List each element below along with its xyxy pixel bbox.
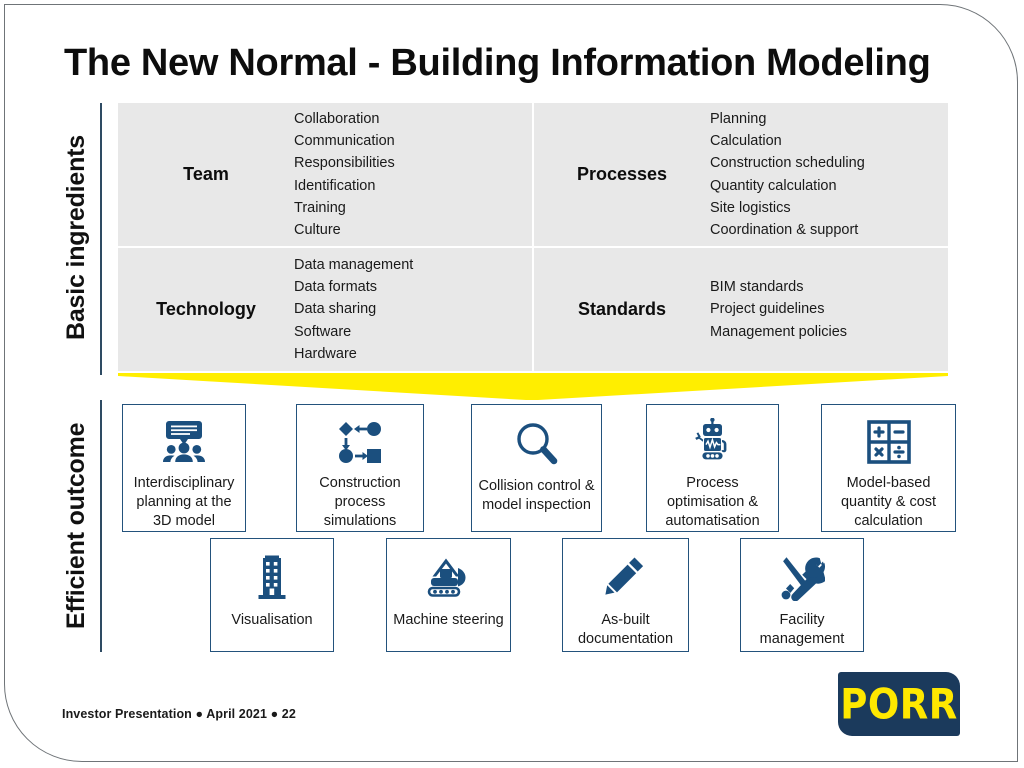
quadrant-item: Responsibilities bbox=[294, 152, 395, 174]
quadrant-items-standards: BIM standards Project guidelines Managem… bbox=[710, 276, 847, 343]
quadrant-item: Communication bbox=[294, 130, 395, 152]
outcome-box-visualisation[interactable]: Visualisation bbox=[210, 538, 334, 652]
quadrant-item: Project guidelines bbox=[710, 298, 847, 320]
excavator-icon bbox=[423, 551, 475, 605]
quadrant-item: Calculation bbox=[710, 130, 865, 152]
quadrant-item: Software bbox=[294, 321, 413, 343]
outcome-box-collision-control[interactable]: Collision control & model inspection bbox=[471, 404, 602, 532]
section-rule-basic-ingredients bbox=[100, 103, 102, 375]
quadrant-item: Data formats bbox=[294, 276, 413, 298]
flowchart-icon bbox=[335, 417, 385, 468]
outcome-label: Model-based quantity & cost calculation bbox=[822, 474, 955, 531]
quadrant-standards: Standards BIM standards Project guidelin… bbox=[534, 248, 948, 371]
outcome-label: Facility management bbox=[741, 611, 863, 649]
outcome-box-construction-process-simulations[interactable]: Construction process simulations bbox=[296, 404, 424, 532]
quadrant-items-technology: Data management Data formats Data sharin… bbox=[294, 254, 413, 365]
outcome-label: Interdisciplinary planning at the 3D mod… bbox=[123, 474, 245, 531]
quadrant-item: Coordination & support bbox=[710, 219, 865, 241]
porr-logo-text: PORR bbox=[840, 680, 958, 728]
quadrant-title-team: Team bbox=[118, 164, 294, 185]
quadrant-item: Collaboration bbox=[294, 108, 395, 130]
quadrant-item: Quantity calculation bbox=[710, 175, 865, 197]
outcome-label: Collision control & model inspection bbox=[472, 477, 601, 515]
outcome-label: Machine steering bbox=[388, 611, 508, 630]
quadrant-title-standards: Standards bbox=[534, 299, 710, 320]
porr-logo: PORR bbox=[838, 672, 960, 736]
pencil-icon bbox=[604, 551, 648, 605]
quadrant-processes: Processes Planning Calculation Construct… bbox=[534, 103, 948, 246]
magnifier-icon bbox=[513, 417, 561, 471]
tools-icon bbox=[779, 551, 825, 605]
outcome-label: Visualisation bbox=[226, 611, 317, 630]
building-icon bbox=[252, 551, 292, 605]
outcome-box-process-optimisation[interactable]: Process optimisation & automatisation bbox=[646, 404, 779, 532]
quadrant-technology: Technology Data management Data formats … bbox=[118, 248, 532, 371]
quadrant-title-technology: Technology bbox=[118, 299, 294, 320]
quadrant-items-team: Collaboration Communication Responsibili… bbox=[294, 108, 395, 241]
quadrant-item: Management policies bbox=[710, 321, 847, 343]
slide: The New Normal - Building Information Mo… bbox=[0, 0, 1024, 768]
calculator-icon bbox=[866, 417, 912, 468]
quadrant-item: Data sharing bbox=[294, 298, 413, 320]
quadrant-item: Site logistics bbox=[710, 197, 865, 219]
section-label-efficient-outcome: Efficient outcome bbox=[62, 400, 91, 652]
yellow-down-arrow-icon bbox=[118, 373, 948, 400]
outcome-box-model-based-quantity[interactable]: Model-based quantity & cost calculation bbox=[821, 404, 956, 532]
quadrant-item: Culture bbox=[294, 219, 395, 241]
outcome-box-as-built-documentation[interactable]: As-built documentation bbox=[562, 538, 689, 652]
outcome-box-facility-management[interactable]: Facility management bbox=[740, 538, 864, 652]
quadrant-team: Team Collaboration Communication Respons… bbox=[118, 103, 532, 246]
basic-ingredients-matrix: Team Collaboration Communication Respons… bbox=[118, 103, 948, 369]
footer-text: Investor Presentation ● April 2021 ● 22 bbox=[62, 707, 296, 721]
quadrant-items-processes: Planning Calculation Construction schedu… bbox=[710, 108, 865, 241]
outcome-label: Construction process simulations bbox=[297, 474, 423, 531]
quadrant-item: BIM standards bbox=[710, 276, 847, 298]
quadrant-item: Construction scheduling bbox=[710, 152, 865, 174]
outcome-box-interdisciplinary-planning[interactable]: Interdisciplinary planning at the 3D mod… bbox=[122, 404, 246, 532]
group-discussion-icon bbox=[159, 417, 209, 468]
quadrant-item: Planning bbox=[710, 108, 865, 130]
outcome-box-machine-steering[interactable]: Machine steering bbox=[386, 538, 511, 652]
quadrant-item: Identification bbox=[294, 175, 395, 197]
page-title: The New Normal - Building Information Mo… bbox=[64, 42, 964, 85]
quadrant-item: Training bbox=[294, 197, 395, 219]
quadrant-item: Hardware bbox=[294, 343, 413, 365]
section-label-basic-ingredients: Basic ingredients bbox=[62, 103, 91, 373]
quadrant-title-processes: Processes bbox=[534, 164, 710, 185]
section-rule-efficient-outcome bbox=[100, 400, 102, 652]
robot-icon bbox=[688, 417, 738, 468]
quadrant-item: Data management bbox=[294, 254, 413, 276]
outcome-label: As-built documentation bbox=[563, 611, 688, 649]
outcome-label: Process optimisation & automatisation bbox=[647, 474, 778, 531]
